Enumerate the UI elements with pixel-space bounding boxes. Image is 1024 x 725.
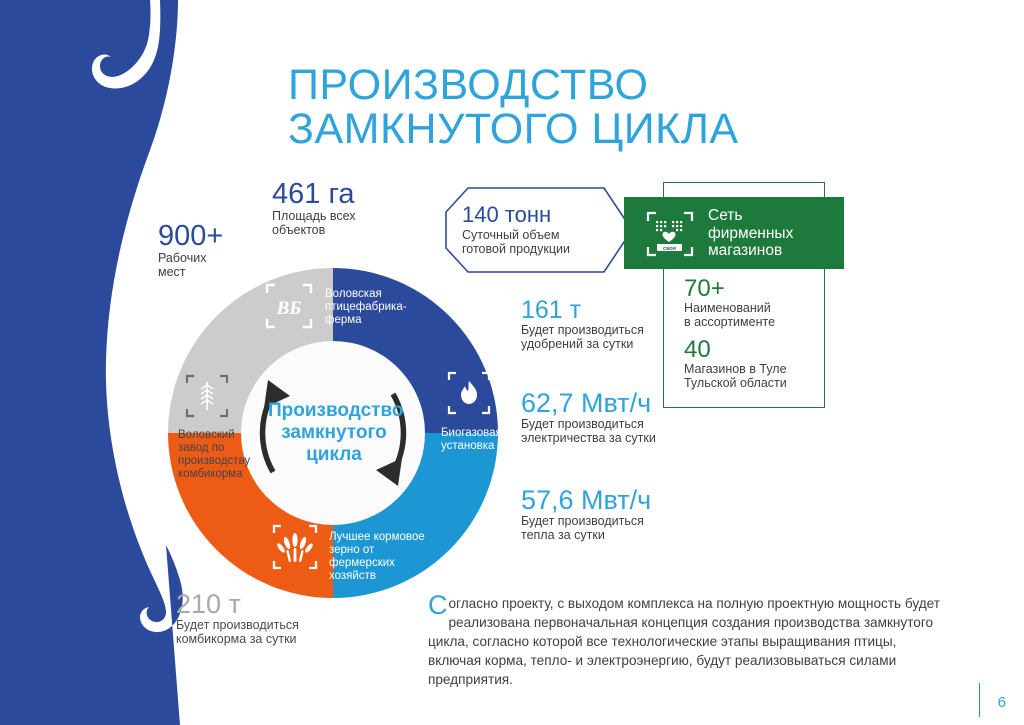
- wheat-bundle-icon: [272, 524, 318, 570]
- slide: ПРОИЗВОДСТВО ЗАМКНУТОГО ЦИКЛА 461 га Пло…: [0, 0, 1024, 725]
- page-number: 6: [998, 694, 1006, 711]
- stat-electricity-caption: Будет производиться электричества за сут…: [521, 417, 656, 445]
- donut-label-biogas: Биогазовая установка: [441, 427, 511, 453]
- svg-text:своя: своя: [663, 246, 676, 252]
- stat-area-value: 461 га: [272, 180, 356, 209]
- stat-assortment: 70+ Наименований в ассортименте: [684, 277, 775, 329]
- stat-shops-value: 40: [684, 338, 787, 362]
- wheat-ear-icon: [185, 374, 229, 418]
- stat-heat-value: 57,6 Мвт/ч: [521, 487, 651, 514]
- stat-heat: 57,6 Мвт/ч Будет производиться тепла за …: [521, 487, 651, 542]
- paragraph-dropcap: С: [428, 594, 449, 617]
- stat-heat-caption: Будет производиться тепла за сутки: [521, 514, 651, 542]
- donut-label-grain: Лучшее кормовое зерно от фермерских хозя…: [329, 531, 437, 583]
- stat-feed-caption: Будет производиться комбикорма за сутки: [176, 618, 299, 646]
- callout-value: 140 тонн: [462, 202, 551, 228]
- store-network-title: Сеть фирменных магазинов: [708, 207, 793, 260]
- title-line-2: ЗАМКНУТОГО ЦИКЛА: [288, 107, 739, 151]
- stat-area: 461 га Площадь всех объектов: [272, 180, 356, 237]
- stat-feed: 210 т Будет производиться комбикорма за …: [176, 591, 299, 646]
- vb-monogram-icon: ВБ: [265, 283, 313, 329]
- stat-fertilizer-value: 161 т: [521, 298, 644, 323]
- page-number-rule: [979, 683, 981, 717]
- stat-assortment-value: 70+: [684, 277, 775, 301]
- stat-fertilizer: 161 т Будет производиться удобрений за с…: [521, 298, 644, 351]
- donut-label-poultry: Воловская птицефабрика- ферма: [325, 288, 411, 327]
- stat-shops: 40 Магазинов в Туле Тульской области: [684, 338, 787, 390]
- stat-area-caption: Площадь всех объектов: [272, 209, 356, 237]
- svg-text:ВБ: ВБ: [276, 298, 302, 319]
- page-title: ПРОИЗВОДСТВО ЗАМКНУТОГО ЦИКЛА: [288, 63, 739, 151]
- stat-assortment-caption: Наименований в ассортименте: [684, 301, 775, 329]
- callout-caption: Суточный объем готовой продукции: [462, 228, 570, 256]
- svoya-logo-icon: своя: [646, 211, 694, 257]
- flame-icon: [447, 371, 491, 415]
- paragraph-text: огласно проекту, с выходом комплекса на …: [428, 596, 940, 687]
- store-network-banner: своя Сеть фирменных магазинов: [624, 197, 844, 269]
- stat-jobs-value: 900+: [158, 222, 223, 251]
- title-line-1: ПРОИЗВОДСТВО: [288, 63, 739, 107]
- stat-electricity: 62,7 Мвт/ч Будет производиться электриче…: [521, 390, 656, 445]
- donut-center-label: Производство замкнутого цикла: [268, 400, 400, 466]
- donut-label-feedmill: Воловский завод по производству комбикор…: [178, 429, 264, 481]
- stat-shops-caption: Магазинов в Туле Тульской области: [684, 362, 787, 390]
- stat-fertilizer-caption: Будет производиться удобрений за сутки: [521, 323, 644, 351]
- stat-electricity-value: 62,7 Мвт/ч: [521, 390, 656, 417]
- daily-output-callout: 140 тонн Суточный объем готовой продукци…: [444, 186, 634, 274]
- summary-paragraph: Согласно проекту, с выходом комплекса на…: [428, 594, 948, 689]
